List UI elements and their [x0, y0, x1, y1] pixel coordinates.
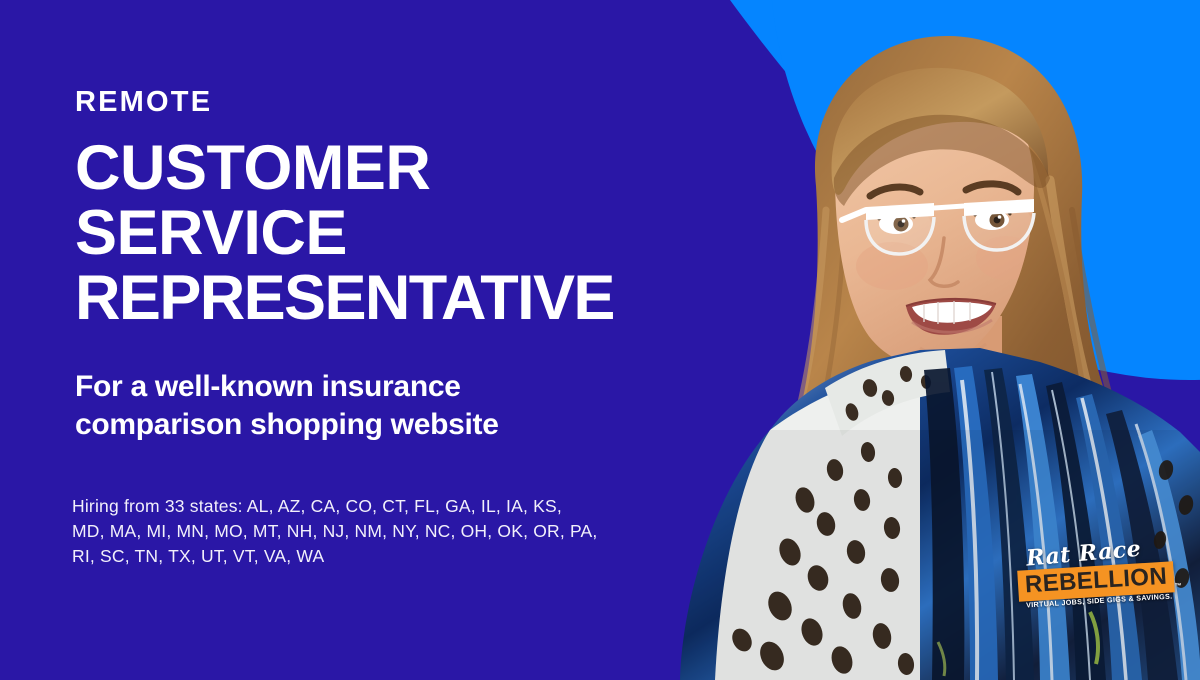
job-ad-banner: REMOTE CUSTOMER SERVICE REPRESENTATIVE F… [0, 0, 1200, 680]
hiring-states-text: Hiring from 33 states: AL, AZ, CA, CO, C… [72, 494, 652, 569]
eyebrow-label: REMOTE [75, 88, 212, 117]
headline-line-1: CUSTOMER [75, 136, 614, 201]
subtitle: For a well-known insurance comparison sh… [75, 368, 499, 444]
states-line-3: RI, SC, TN, TX, UT, VT, VA, WA [72, 544, 652, 569]
page-title: CUSTOMER SERVICE REPRESENTATIVE [75, 136, 614, 331]
headline-line-2: SERVICE [75, 201, 614, 266]
headline-line-3: REPRESENTATIVE [75, 266, 614, 331]
subtitle-line-2: comparison shopping website [75, 406, 499, 444]
trademark-symbol: ™ [1175, 583, 1182, 590]
rat-race-rebellion-logo[interactable]: Rat Race REBELLION ™ VIRTUAL JOBS, SIDE … [1018, 540, 1163, 612]
states-line-1: Hiring from 33 states: AL, AZ, CA, CO, C… [72, 494, 652, 519]
headline-text-block: REMOTE CUSTOMER SERVICE REPRESENTATIVE F… [0, 0, 720, 680]
subtitle-line-1: For a well-known insurance [75, 368, 499, 406]
states-line-2: MD, MA, MI, MN, MO, MT, NH, NJ, NM, NY, … [72, 519, 652, 544]
